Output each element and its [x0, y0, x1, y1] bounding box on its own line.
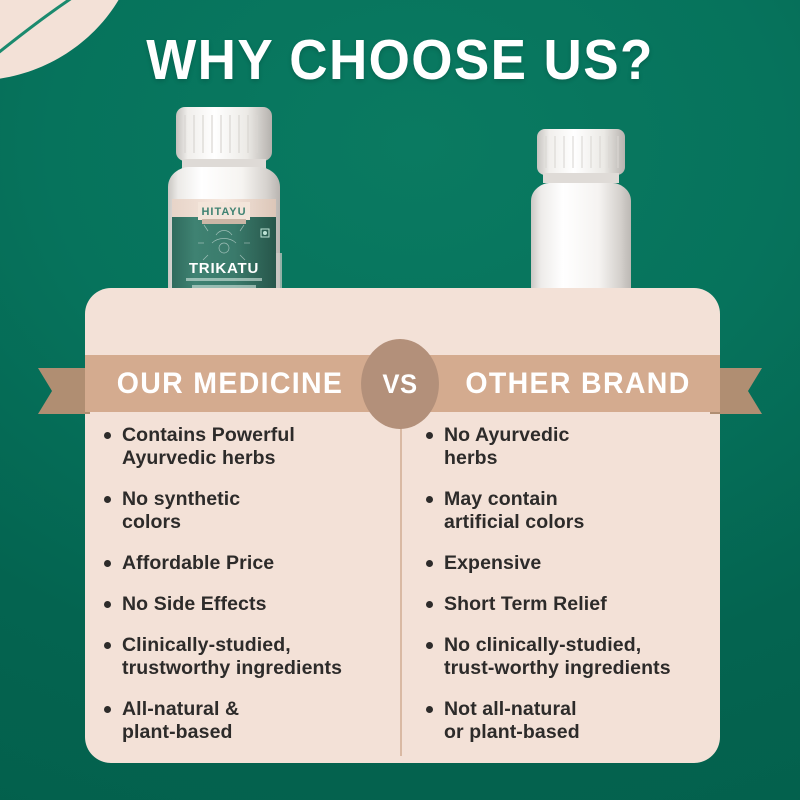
our-medicine-heading: OUR MEDICINE: [102, 355, 359, 412]
ribbon-tail-left: [38, 368, 90, 414]
other-brand-list: No Ayurvedic herbsMay contain artificial…: [426, 424, 726, 762]
bullet-dot-icon: [104, 601, 111, 608]
list-item: Short Term Relief: [426, 593, 726, 616]
list-item-label: Clinically-studied, trustworthy ingredie…: [122, 634, 342, 680]
list-item-label: Contains Powerful Ayurvedic herbs: [122, 424, 295, 470]
list-item: Clinically-studied, trustworthy ingredie…: [104, 634, 404, 680]
list-item: All-natural & plant-based: [104, 698, 404, 744]
list-item: Expensive: [426, 552, 726, 575]
bullet-dot-icon: [104, 560, 111, 567]
bullet-dot-icon: [426, 432, 433, 439]
list-item-label: Not all-natural or plant-based: [444, 698, 580, 744]
page-title: WHY CHOOSE US?: [28, 28, 772, 92]
list-item-label: Affordable Price: [122, 552, 274, 575]
bullet-dot-icon: [104, 706, 111, 713]
promotional-poster: WHY CHOOSE US?: [0, 0, 800, 800]
bullet-dot-icon: [104, 642, 111, 649]
list-item: No Ayurvedic herbs: [426, 424, 726, 470]
vs-badge: VS: [361, 339, 439, 429]
bullet-dot-icon: [426, 642, 433, 649]
bullet-dot-icon: [426, 560, 433, 567]
list-item-label: No Side Effects: [122, 593, 267, 616]
list-item: No synthetic colors: [104, 488, 404, 534]
svg-text:HITAYU: HITAYU: [201, 206, 246, 218]
list-item-label: No synthetic colors: [122, 488, 240, 534]
list-item-label: No clinically-studied, trust-worthy ingr…: [444, 634, 671, 680]
bullet-dot-icon: [104, 496, 111, 503]
list-item-label: No Ayurvedic herbs: [444, 424, 569, 470]
bullet-dot-icon: [426, 706, 433, 713]
bullet-dot-icon: [426, 496, 433, 503]
our-medicine-list: Contains Powerful Ayurvedic herbsNo synt…: [104, 424, 404, 762]
list-item: Contains Powerful Ayurvedic herbs: [104, 424, 404, 470]
list-item: Affordable Price: [104, 552, 404, 575]
list-item-label: Short Term Relief: [444, 593, 607, 616]
list-item-label: Expensive: [444, 552, 541, 575]
list-item: May contain artificial colors: [426, 488, 726, 534]
bullet-dot-icon: [104, 432, 111, 439]
list-item: No Side Effects: [104, 593, 404, 616]
svg-text:TRIKATU: TRIKATU: [189, 260, 259, 277]
list-item-label: All-natural & plant-based: [122, 698, 239, 744]
bullet-dot-icon: [426, 601, 433, 608]
other-brand-heading: OTHER BRAND: [450, 355, 707, 412]
list-item: Not all-natural or plant-based: [426, 698, 726, 744]
list-item-label: May contain artificial colors: [444, 488, 584, 534]
list-item: No clinically-studied, trust-worthy ingr…: [426, 634, 726, 680]
